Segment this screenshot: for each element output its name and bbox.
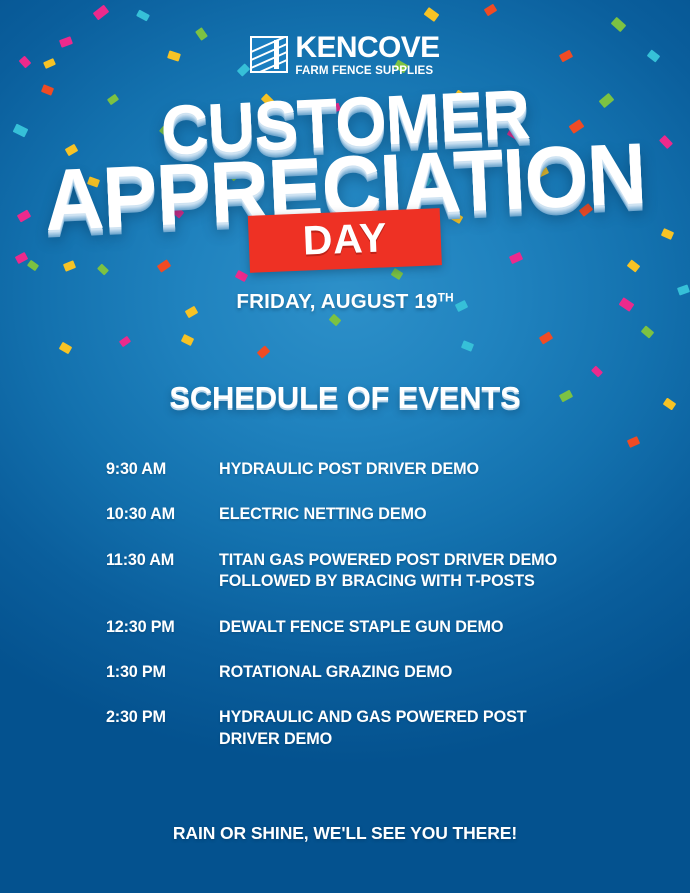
schedule-row-description: ROTATIONAL GRAZING DEMO bbox=[219, 662, 630, 683]
fence-panel-icon bbox=[250, 36, 288, 73]
schedule-row-description: HYDRAULIC AND GAS POWERED POST DRIVER DE… bbox=[219, 707, 630, 750]
confetti-piece bbox=[484, 4, 498, 17]
schedule-row-time: 10:30 AM bbox=[106, 504, 219, 525]
footer: RAIN OR SHINE, WE'LL SEE YOU THERE! bbox=[0, 823, 690, 844]
schedule-row-time: 11:30 AM bbox=[106, 550, 219, 571]
day-banner: DAY bbox=[248, 208, 442, 273]
schedule-heading: SCHEDULE OF EVENTS bbox=[0, 380, 690, 416]
confetti-piece bbox=[136, 10, 150, 22]
confetti-piece bbox=[181, 334, 194, 346]
confetti-piece bbox=[539, 331, 553, 344]
confetti-piece bbox=[627, 259, 641, 272]
schedule-heading-text: SCHEDULE OF EVENTS bbox=[169, 380, 520, 415]
confetti-piece bbox=[391, 268, 404, 280]
confetti-piece bbox=[119, 336, 131, 348]
event-date-text: FRIDAY, AUGUST 19 bbox=[236, 290, 437, 313]
confetti-piece bbox=[235, 270, 248, 282]
poster-canvas: KENCOVE FARM FENCE SUPPLIES CUSTOMER APP… bbox=[0, 0, 690, 893]
schedule-row-time: 2:30 PM bbox=[106, 707, 219, 728]
brand-name: KENCOVE bbox=[295, 34, 439, 63]
confetti-piece bbox=[257, 345, 271, 358]
event-date: FRIDAY, AUGUST 19TH bbox=[0, 290, 690, 314]
confetti-piece bbox=[611, 17, 627, 32]
confetti-piece bbox=[509, 252, 523, 264]
confetti-piece bbox=[97, 264, 109, 276]
brand-tagline: FARM FENCE SUPPLIES bbox=[295, 65, 439, 77]
schedule-row-description: ELECTRIC NETTING DEMO bbox=[219, 504, 630, 525]
headline: CUSTOMER APPRECIATION bbox=[0, 94, 690, 223]
confetti-piece bbox=[59, 342, 73, 354]
confetti-piece bbox=[15, 252, 28, 264]
logo-text: KENCOVE FARM FENCE SUPPLIES bbox=[295, 33, 439, 76]
confetti-piece bbox=[63, 260, 76, 272]
schedule-row-time: 1:30 PM bbox=[106, 662, 219, 683]
confetti-piece bbox=[93, 5, 110, 21]
schedule-row-time: 12:30 PM bbox=[106, 617, 219, 638]
brand-logo: KENCOVE FARM FENCE SUPPLIES bbox=[0, 33, 690, 76]
confetti-piece bbox=[424, 7, 440, 22]
schedule-row: 1:30 PMROTATIONAL GRAZING DEMO bbox=[106, 662, 630, 683]
confetti-piece bbox=[641, 325, 655, 338]
confetti-piece bbox=[329, 314, 342, 327]
confetti-piece bbox=[661, 228, 674, 240]
day-banner-text: DAY bbox=[302, 217, 388, 261]
logo-inner: KENCOVE FARM FENCE SUPPLIES bbox=[250, 33, 439, 76]
footer-text: RAIN OR SHINE, WE'LL SEE YOU THERE! bbox=[173, 823, 517, 843]
schedule-row: 11:30 AMTITAN GAS POWERED POST DRIVER DE… bbox=[106, 550, 630, 593]
confetti-piece bbox=[461, 340, 474, 352]
schedule-row-description: TITAN GAS POWERED POST DRIVER DEMO FOLLO… bbox=[219, 550, 630, 593]
schedule-row-description: HYDRAULIC POST DRIVER DEMO bbox=[219, 459, 630, 480]
schedule-row-description: DEWALT FENCE STAPLE GUN DEMO bbox=[219, 617, 630, 638]
schedule-row: 2:30 PMHYDRAULIC AND GAS POWERED POST DR… bbox=[106, 707, 630, 750]
confetti-piece bbox=[27, 260, 39, 272]
confetti-piece bbox=[591, 366, 603, 378]
schedule-row: 12:30 PMDEWALT FENCE STAPLE GUN DEMO bbox=[106, 617, 630, 638]
schedule-list: 9:30 AMHYDRAULIC POST DRIVER DEMO10:30 A… bbox=[106, 459, 630, 774]
confetti-piece bbox=[157, 259, 171, 272]
schedule-row: 10:30 AMELECTRIC NETTING DEMO bbox=[106, 504, 630, 525]
confetti-piece bbox=[627, 436, 640, 448]
event-date-ordinal: TH bbox=[438, 291, 454, 305]
schedule-row: 9:30 AMHYDRAULIC POST DRIVER DEMO bbox=[106, 459, 630, 480]
schedule-row-time: 9:30 AM bbox=[106, 459, 219, 480]
